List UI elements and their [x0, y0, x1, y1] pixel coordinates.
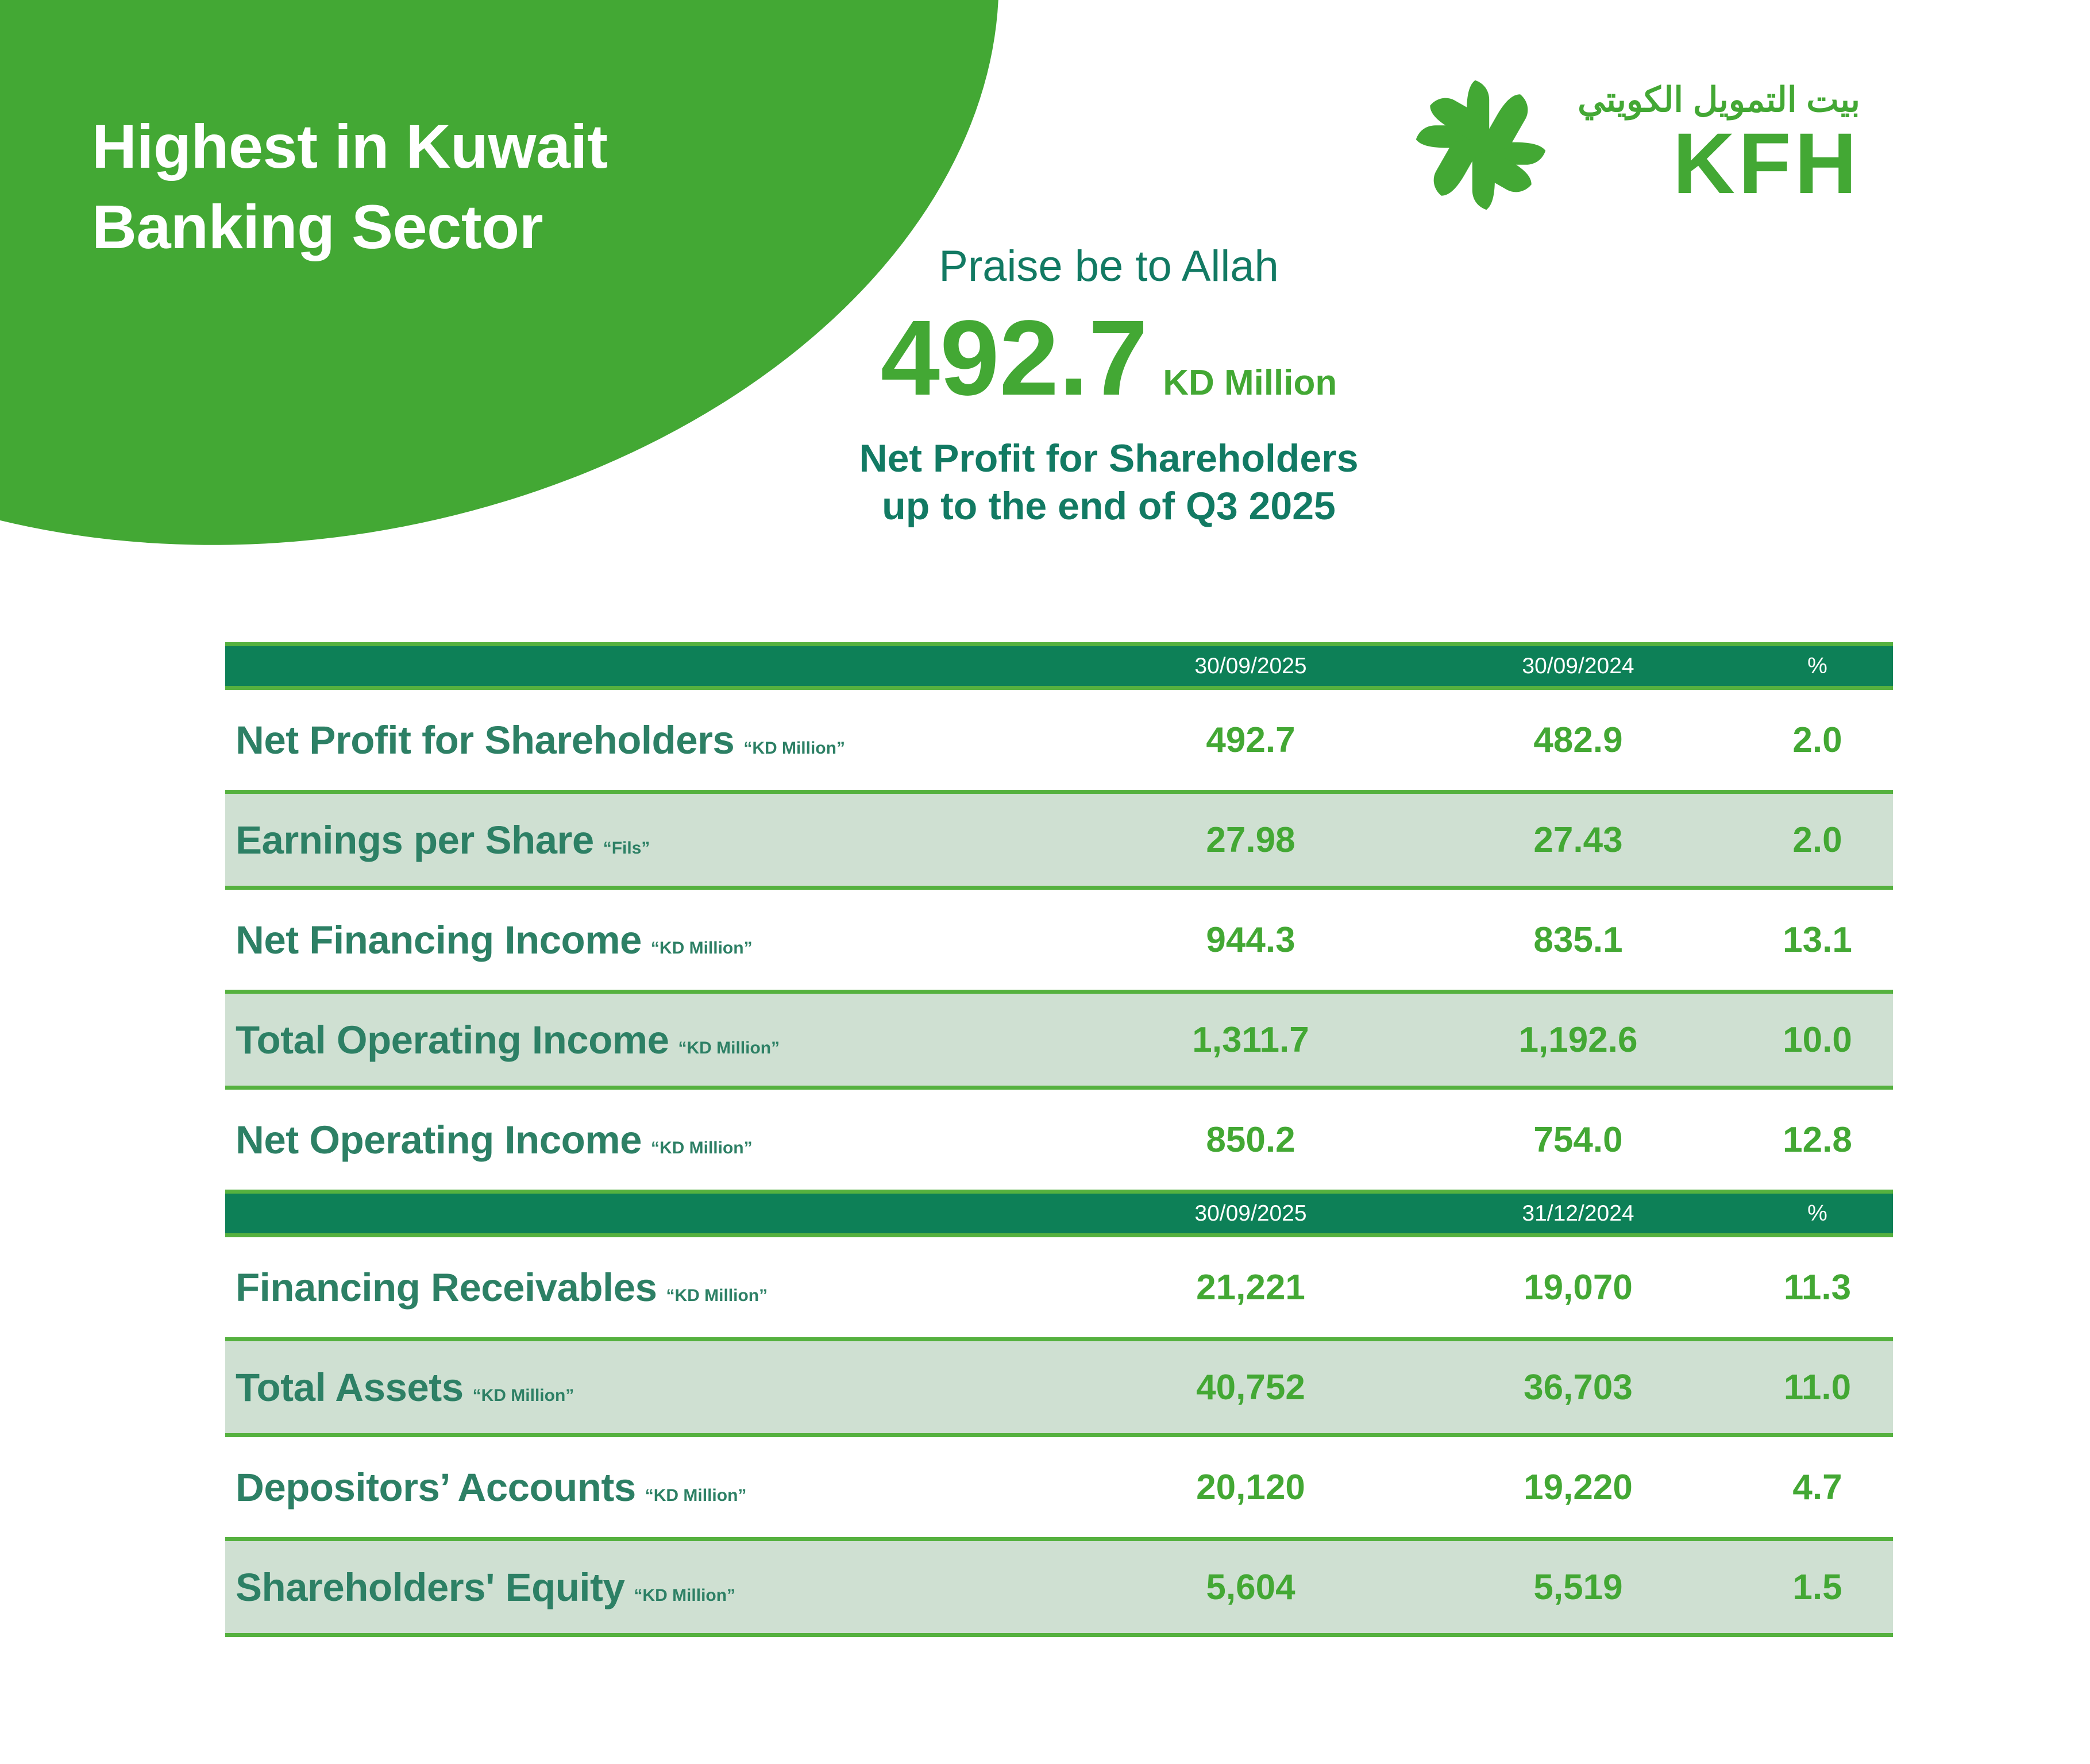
row-value-prior: 27.43: [1414, 820, 1742, 860]
kfh-logo: بيت التمويل الكويتي KFH: [1410, 75, 1860, 215]
row-value-prior: 1,192.6: [1414, 1020, 1742, 1060]
row-value-percent: 1.5: [1742, 1567, 1893, 1608]
table-row: Net Operating Income“KD Million”850.2754…: [225, 1090, 1893, 1190]
row-label-cell: Financing Receivables“KD Million”: [225, 1265, 1087, 1310]
row-value-prior: 36,703: [1414, 1367, 1742, 1408]
row-label-cell: Net Financing Income“KD Million”: [225, 917, 1087, 963]
hero-caption-line-1: Net Profit for Shareholders: [735, 435, 1482, 483]
row-value-current: 21,221: [1087, 1267, 1414, 1308]
row-label-cell: Earnings per Share“Fils”: [225, 817, 1087, 863]
row-label: Total Operating Income: [236, 1017, 669, 1063]
row-unit: “KD Million”: [743, 739, 845, 758]
row-label-cell: Depositors’ Accounts“KD Million”: [225, 1465, 1087, 1510]
row-unit: “KD Million”: [634, 1586, 735, 1605]
row-value-current: 20,120: [1087, 1467, 1414, 1508]
row-value-current: 944.3: [1087, 920, 1414, 960]
row-unit: “KD Million”: [651, 939, 753, 958]
table-header-row-2: 30/09/202531/12/2024%: [225, 1190, 1893, 1237]
row-label-cell: Total Operating Income“KD Million”: [225, 1017, 1087, 1063]
table-row: Net Profit for Shareholders“KD Million”4…: [225, 690, 1893, 790]
page-headline: Highest in Kuwait Banking Sector: [92, 106, 608, 268]
table-row: Financing Receivables“KD Million”21,2211…: [225, 1237, 1893, 1337]
row-value-percent: 4.7: [1742, 1467, 1893, 1508]
row-value-percent: 11.3: [1742, 1267, 1893, 1308]
column-header-1: 30/09/2025: [1087, 1201, 1414, 1226]
row-value-prior: 19,220: [1414, 1467, 1742, 1508]
column-header-1: 30/09/2025: [1087, 654, 1414, 679]
hero-amount-row: 492.7 KD Million: [735, 305, 1482, 412]
kfh-latin-name: KFH: [1673, 119, 1860, 207]
row-value-current: 1,311.7: [1087, 1020, 1414, 1060]
row-label: Net Financing Income: [236, 917, 642, 963]
row-label: Shareholders' Equity: [236, 1565, 624, 1610]
row-label-cell: Net Profit for Shareholders“KD Million”: [225, 717, 1087, 763]
row-label-cell: Total Assets“KD Million”: [225, 1365, 1087, 1410]
hero-amount-unit: KD Million: [1163, 362, 1337, 403]
row-value-prior: 19,070: [1414, 1267, 1742, 1308]
kfh-pinwheel-icon: [1410, 75, 1551, 215]
column-header-2: 30/09/2024: [1414, 654, 1742, 679]
row-value-percent: 10.0: [1742, 1020, 1893, 1060]
row-value-percent: 2.0: [1742, 720, 1893, 761]
hero-summary: Praise be to Allah 492.7 KD Million Net …: [735, 241, 1482, 530]
table-header-row-1: 30/09/202530/09/2024%: [225, 642, 1893, 690]
row-label: Net Profit for Shareholders: [236, 717, 734, 763]
column-header-3: %: [1742, 1201, 1893, 1226]
row-label: Financing Receivables: [236, 1265, 657, 1310]
praise-text: Praise be to Allah: [735, 241, 1482, 291]
row-value-current: 40,752: [1087, 1367, 1414, 1408]
hero-amount-value: 492.7: [881, 305, 1148, 412]
row-label-cell: Net Operating Income“KD Million”: [225, 1117, 1087, 1163]
kfh-arabic-name: بيت التمويل الكويتي: [1578, 83, 1860, 117]
row-value-percent: 11.0: [1742, 1367, 1893, 1408]
row-value-prior: 835.1: [1414, 920, 1742, 960]
table-row: Total Assets“KD Million”40,75236,70311.0: [225, 1337, 1893, 1437]
row-unit: “KD Million”: [666, 1286, 768, 1306]
row-value-current: 27.98: [1087, 820, 1414, 860]
row-label-cell: Shareholders' Equity“KD Million”: [225, 1565, 1087, 1610]
hero-caption-line-2: up to the end of Q3 2025: [735, 483, 1482, 530]
column-header-3: %: [1742, 654, 1893, 679]
row-unit: “Fils”: [603, 839, 650, 858]
row-value-current: 492.7: [1087, 720, 1414, 761]
row-value-percent: 2.0: [1742, 820, 1893, 860]
row-value-prior: 482.9: [1414, 720, 1742, 761]
row-value-current: 850.2: [1087, 1120, 1414, 1160]
row-unit: “KD Million”: [473, 1386, 574, 1406]
row-value-percent: 12.8: [1742, 1120, 1893, 1160]
headline-line-2: Banking Sector: [92, 187, 608, 267]
table-row: Total Operating Income“KD Million”1,311.…: [225, 990, 1893, 1090]
row-value-prior: 754.0: [1414, 1120, 1742, 1160]
row-unit: “KD Million”: [645, 1486, 747, 1506]
row-unit: “KD Million”: [678, 1039, 780, 1058]
row-value-percent: 13.1: [1742, 920, 1893, 960]
row-label: Earnings per Share: [236, 817, 594, 863]
table-row: Net Financing Income“KD Million”944.3835…: [225, 890, 1893, 990]
row-value-current: 5,604: [1087, 1567, 1414, 1608]
row-label: Depositors’ Accounts: [236, 1465, 636, 1510]
row-unit: “KD Million”: [651, 1138, 753, 1158]
table-row: Shareholders' Equity“KD Million”5,6045,5…: [225, 1537, 1893, 1637]
row-label: Total Assets: [236, 1365, 464, 1410]
kfh-logo-wordmark: بيت التمويل الكويتي KFH: [1578, 83, 1860, 207]
column-header-2: 31/12/2024: [1414, 1201, 1742, 1226]
table-row: Depositors’ Accounts“KD Million”20,12019…: [225, 1437, 1893, 1537]
table-row: Earnings per Share“Fils”27.9827.432.0: [225, 790, 1893, 890]
row-value-prior: 5,519: [1414, 1567, 1742, 1608]
hero-caption: Net Profit for Shareholders up to the en…: [735, 435, 1482, 530]
financials-table: 30/09/202530/09/2024%Net Profit for Shar…: [225, 642, 1893, 1637]
row-label: Net Operating Income: [236, 1117, 642, 1163]
headline-line-1: Highest in Kuwait: [92, 106, 608, 187]
